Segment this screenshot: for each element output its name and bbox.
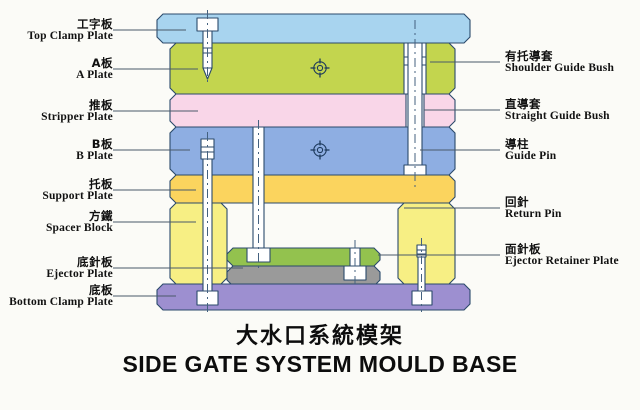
- label-cn: 有托導套: [505, 50, 614, 62]
- label-support-plate: 托板 Support Plate: [0, 178, 113, 203]
- label-cn: 底針板: [0, 256, 113, 268]
- label-cn: 方鐵: [0, 210, 113, 222]
- label-cn: A板: [0, 57, 113, 69]
- label-a-plate: A板 A Plate: [0, 57, 113, 82]
- spacer-block-left: [170, 203, 227, 284]
- label-en: Guide Pin: [505, 150, 556, 162]
- label-top-clamp-plate: 工字板 Top Clamp Plate: [0, 18, 113, 43]
- label-cn: 導柱: [505, 138, 556, 150]
- label-en: B Plate: [0, 150, 113, 162]
- label-en: Ejector Plate: [0, 268, 113, 280]
- label-ejector-retainer-plate: 面針板 Ejector Retainer Plate: [505, 243, 619, 268]
- label-en: Ejector Retainer Plate: [505, 255, 619, 267]
- label-spacer-block: 方鐵 Spacer Block: [0, 210, 113, 235]
- plate-support: [170, 175, 455, 203]
- label-cn: 底板: [0, 284, 113, 296]
- diagram-title: 大水口系統模架 SIDE GATE SYSTEM MOULD BASE: [0, 318, 640, 378]
- label-cn: B板: [0, 138, 113, 150]
- label-return-pin: 回針 Return Pin: [505, 196, 562, 221]
- label-en: Shoulder Guide Bush: [505, 62, 614, 74]
- title-cn: 大水口系統模架: [0, 318, 640, 350]
- diagram-page: 工字板 Top Clamp Plate A板 A Plate 推板 Stripp…: [0, 0, 640, 410]
- label-shoulder-guide-bush: 有托導套 Shoulder Guide Bush: [505, 50, 614, 75]
- label-ejector-plate: 底針板 Ejector Plate: [0, 256, 113, 281]
- label-guide-pin: 導柱 Guide Pin: [505, 138, 556, 163]
- label-en: Stripper Plate: [0, 111, 113, 123]
- label-en: Spacer Block: [0, 222, 113, 234]
- label-bottom-clamp-plate: 底板 Bottom Clamp Plate: [0, 284, 113, 309]
- label-stripper-plate: 推板 Stripper Plate: [0, 99, 113, 124]
- label-b-plate: B板 B Plate: [0, 138, 113, 163]
- spacer-block-right: [398, 203, 455, 284]
- label-cn: 工字板: [0, 18, 113, 30]
- label-en: A Plate: [0, 69, 113, 81]
- label-en: Bottom Clamp Plate: [0, 296, 113, 308]
- title-en: SIDE GATE SYSTEM MOULD BASE: [0, 351, 640, 378]
- label-cn: 推板: [0, 99, 113, 111]
- label-en: Return Pin: [505, 208, 562, 220]
- label-cn: 托板: [0, 178, 113, 190]
- label-cn: 回針: [505, 196, 562, 208]
- label-cn: 直導套: [505, 98, 610, 110]
- label-en: Straight Guide Bush: [505, 110, 610, 122]
- label-cn: 面針板: [505, 243, 619, 255]
- label-en: Support Plate: [0, 190, 113, 202]
- label-en: Top Clamp Plate: [0, 30, 113, 42]
- label-straight-guide-bush: 直導套 Straight Guide Bush: [505, 98, 610, 123]
